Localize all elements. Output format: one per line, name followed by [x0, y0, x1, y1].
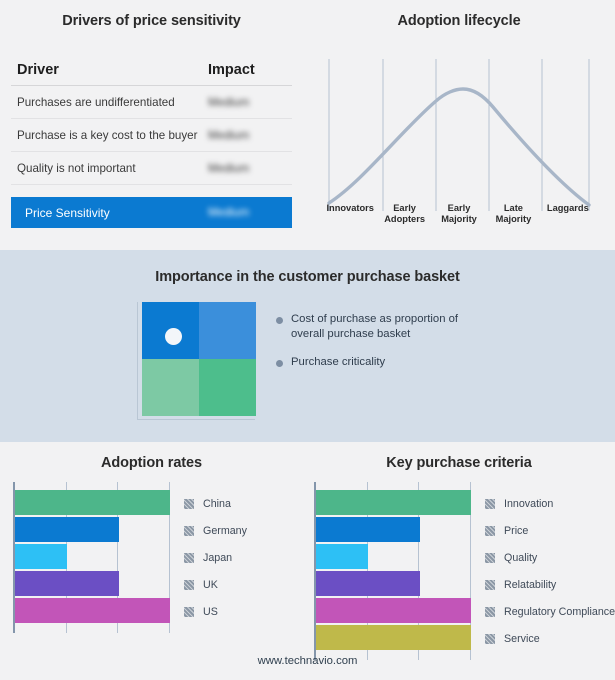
legend-label: Innovation	[504, 498, 553, 510]
bar-row-quality[interactable]	[316, 544, 471, 569]
legend-item-japan[interactable]: Japan	[184, 544, 247, 571]
bar-row-regulatory-compliance[interactable]	[316, 598, 471, 623]
bar-row-germany[interactable]	[15, 517, 170, 542]
bar-relatability	[316, 571, 420, 596]
infographic-page: Drivers of price sensitivity Driver Impa…	[0, 0, 615, 680]
driver-label: Purchase is a key cost to the buyer	[17, 129, 208, 142]
quadrant-matrix-wrapper	[137, 302, 255, 420]
driver-label-highlighted: Price Sensitivity	[25, 206, 208, 220]
legend-item-relatability[interactable]: Relatability	[485, 571, 615, 598]
hatched-swatch-icon	[184, 553, 194, 563]
bar-regulatory-compliance	[316, 598, 471, 623]
quadrant-top-right[interactable]	[199, 302, 256, 359]
bar-us	[15, 598, 170, 623]
legend-label: Price	[504, 525, 528, 537]
lifecycle-stage-early-majority: Early Majority	[432, 203, 486, 224]
table-row-highlighted[interactable]: Price Sensitivity Medium	[11, 197, 292, 228]
bottom-section: Adoption rates	[0, 442, 615, 680]
legend-label: Quality	[504, 552, 537, 564]
bar-service	[316, 625, 471, 650]
legend-item-service[interactable]: Service	[485, 625, 615, 652]
impact-value-highlighted: Medium	[208, 206, 286, 219]
adoption-rates-chart: China Germany Japan UK	[13, 482, 247, 633]
bar-price	[316, 517, 420, 542]
legend-label: Germany	[203, 525, 247, 537]
hatched-swatch-icon	[485, 526, 495, 536]
purchase-basket-title: Importance in the customer purchase bask…	[0, 269, 615, 285]
bar-row-price[interactable]	[316, 517, 471, 542]
legend-label: China	[203, 498, 231, 510]
adoption-rates-title: Adoption rates	[0, 455, 303, 471]
drivers-table-header: Driver Impact	[11, 62, 292, 86]
table-row[interactable]: Quality is not important Medium	[11, 152, 292, 185]
lifecycle-stage-innovators: Innovators	[323, 203, 377, 224]
legend-item-quality[interactable]: Quality	[485, 544, 615, 571]
hatched-swatch-icon	[184, 499, 194, 509]
bell-curve-path	[329, 89, 589, 205]
drivers-title: Drivers of price sensitivity	[0, 13, 303, 29]
legend-item-regulatory-compliance[interactable]: Regulatory Compliance	[485, 598, 615, 625]
bullet-dot-icon	[276, 360, 283, 367]
lifecycle-panel: Adoption lifecycle Innovators Ear	[303, 0, 615, 250]
bar-germany	[15, 517, 119, 542]
column-header-driver: Driver	[17, 62, 208, 78]
hatched-swatch-icon	[184, 580, 194, 590]
column-header-impact: Impact	[208, 62, 286, 78]
hatched-swatch-icon	[184, 607, 194, 617]
bar-china	[15, 490, 170, 515]
purchase-criteria-legend: Innovation Price Quality Relatability	[485, 482, 615, 660]
bar-quality	[316, 544, 368, 569]
bar-japan	[15, 544, 67, 569]
legend-label: Relatability	[504, 579, 556, 591]
list-item: Purchase criticality	[276, 355, 576, 370]
legend-label: Purchase criticality	[291, 355, 385, 370]
purchase-basket-legend: Cost of purchase as proportion of overal…	[276, 312, 576, 384]
bar-row-uk[interactable]	[15, 571, 170, 596]
drivers-table: Driver Impact Purchases are undifferenti…	[11, 62, 292, 228]
hatched-swatch-icon	[485, 553, 495, 563]
purchase-criteria-plot	[314, 482, 471, 660]
legend-label: Japan	[203, 552, 232, 564]
legend-item-us[interactable]: US	[184, 598, 247, 625]
lifecycle-stage-laggards: Laggards	[541, 203, 595, 224]
bullet-dot-icon	[276, 317, 283, 324]
quadrant-bottom-left[interactable]	[142, 359, 199, 416]
purchase-basket-section: Importance in the customer purchase bask…	[0, 250, 615, 442]
legend-item-price[interactable]: Price	[485, 517, 615, 544]
bar-uk	[15, 571, 119, 596]
lifecycle-stage-late-majority: Late Majority	[486, 203, 540, 224]
list-item: Cost of purchase as proportion of overal…	[276, 312, 576, 341]
table-row[interactable]: Purchase is a key cost to the buyer Medi…	[11, 119, 292, 152]
driver-label: Purchases are undifferentiated	[17, 96, 208, 109]
purchase-criteria-title: Key purchase criteria	[303, 455, 615, 471]
legend-label: Regulatory Compliance	[504, 606, 615, 618]
drivers-panel: Drivers of price sensitivity Driver Impa…	[0, 0, 303, 250]
position-marker-dot	[165, 328, 182, 345]
adoption-rates-plot	[13, 482, 170, 633]
bar-row-japan[interactable]	[15, 544, 170, 569]
table-row[interactable]: Purchases are undifferentiated Medium	[11, 86, 292, 119]
footer-url[interactable]: www.technavio.com	[0, 655, 615, 667]
purchase-criteria-panel: Key purchase criteria	[303, 442, 615, 652]
adoption-rates-panel: Adoption rates	[0, 442, 303, 652]
bar-row-service[interactable]	[316, 625, 471, 650]
impact-value: Medium	[208, 162, 286, 175]
bell-curve-svg	[323, 55, 595, 215]
legend-label: Cost of purchase as proportion of overal…	[291, 312, 491, 341]
legend-item-uk[interactable]: UK	[184, 571, 247, 598]
hatched-swatch-icon	[184, 526, 194, 536]
legend-label: UK	[203, 579, 218, 591]
lifecycle-stage-early-adopters: Early Adopters	[377, 203, 431, 224]
legend-label: US	[203, 606, 218, 618]
bar-row-china[interactable]	[15, 490, 170, 515]
impact-value: Medium	[208, 96, 286, 109]
bar-innovation	[316, 490, 471, 515]
hatched-swatch-icon	[485, 634, 495, 644]
bar-row-us[interactable]	[15, 598, 170, 623]
quadrant-matrix	[142, 302, 256, 416]
legend-label: Service	[504, 633, 540, 645]
impact-value: Medium	[208, 129, 286, 142]
lifecycle-chart: Innovators Early Adopters Early Majority…	[323, 55, 595, 230]
lifecycle-title: Adoption lifecycle	[303, 13, 615, 29]
bar-row-innovation[interactable]	[316, 490, 471, 515]
lifecycle-gridlines	[329, 59, 589, 211]
adoption-rates-legend: China Germany Japan UK	[184, 482, 247, 633]
legend-item-china[interactable]: China	[184, 490, 247, 517]
top-section: Drivers of price sensitivity Driver Impa…	[0, 0, 615, 250]
legend-item-germany[interactable]: Germany	[184, 517, 247, 544]
quadrant-bottom-right[interactable]	[199, 359, 256, 416]
hatched-swatch-icon	[485, 499, 495, 509]
driver-label: Quality is not important	[17, 162, 208, 175]
bar-row-relatability[interactable]	[316, 571, 471, 596]
legend-item-innovation[interactable]: Innovation	[485, 490, 615, 517]
hatched-swatch-icon	[485, 580, 495, 590]
lifecycle-stage-labels: Innovators Early Adopters Early Majority…	[323, 203, 595, 224]
purchase-criteria-chart: Innovation Price Quality Relatability	[314, 482, 615, 660]
hatched-swatch-icon	[485, 607, 495, 617]
